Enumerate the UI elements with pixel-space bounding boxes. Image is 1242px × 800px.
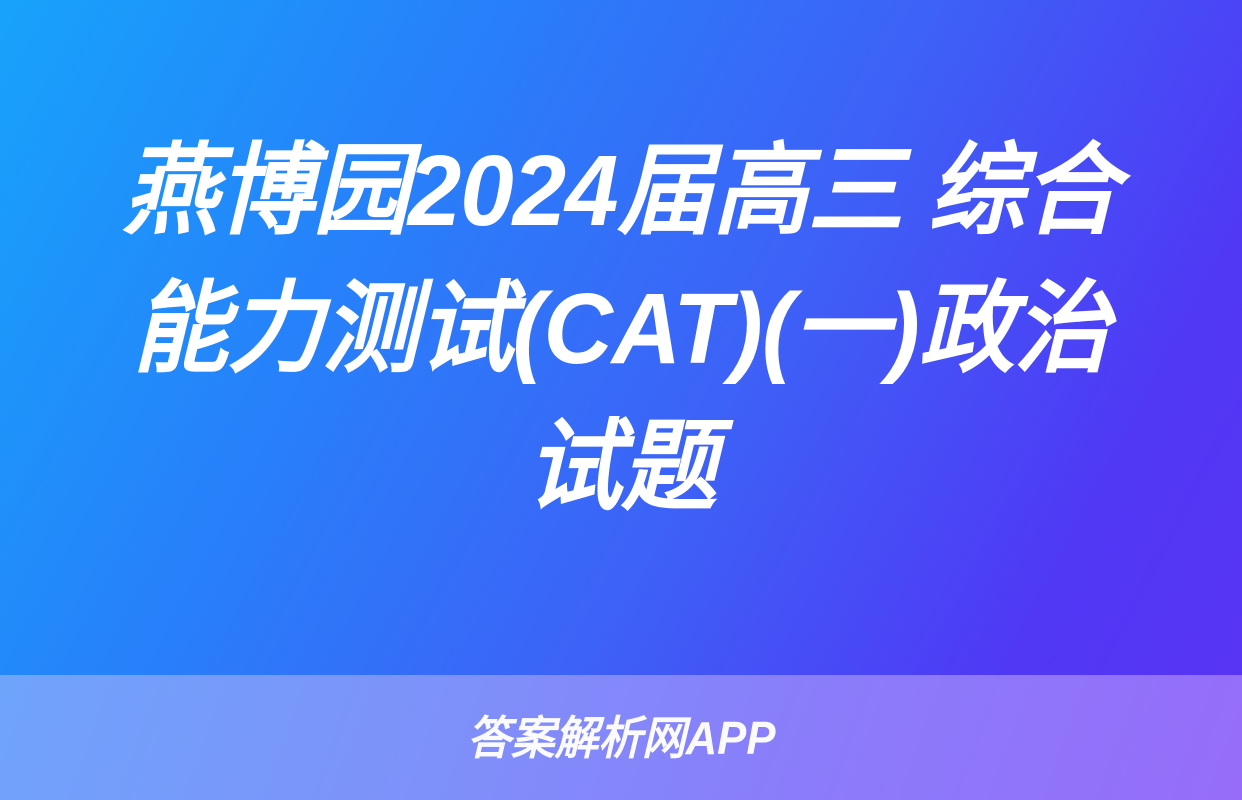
exam-cover-image: 燕博园2024届高三 综合 能力测试(CAT)(一)政治 试题 答案解析网APP <box>0 0 1242 800</box>
footer-watermark-band: 答案解析网APP <box>0 675 1242 800</box>
title-line-2: 能力测试(CAT)(一)政治 <box>133 260 1110 398</box>
title-line-1: 燕博园2024届高三 综合 <box>123 122 1119 260</box>
title-line-3: 试题 <box>526 398 716 536</box>
title-block: 燕博园2024届高三 综合 能力测试(CAT)(一)政治 试题 <box>0 0 1242 675</box>
watermark-label: 答案解析网APP <box>467 715 775 761</box>
